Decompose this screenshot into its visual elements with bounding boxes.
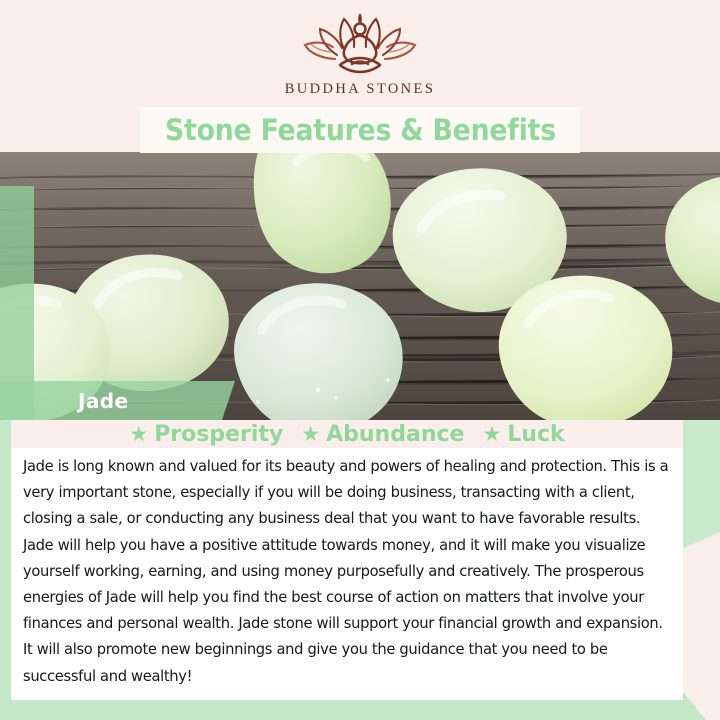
accent-strip-right <box>680 420 720 532</box>
brand-header: BUDDHA STONES <box>0 12 720 98</box>
benefit-label: Luck <box>507 422 564 447</box>
description-paragraph: Jade is long known and valued for its be… <box>23 453 669 689</box>
benefit-item-luck: ★ Luck <box>482 422 564 447</box>
benefit-label: Abundance <box>326 422 464 447</box>
brand-name: BUDDHA STONES <box>285 81 436 98</box>
lotus-meditation-icon <box>300 12 420 78</box>
accent-strip-left <box>0 420 11 700</box>
star-icon: ★ <box>301 424 320 445</box>
benefit-label: Prosperity <box>154 422 283 447</box>
stone-name-label: Jade <box>78 389 128 413</box>
description-section: ★ Prosperity ★ Abundance ★ Luck Jade is … <box>0 420 720 720</box>
benefits-row: ★ Prosperity ★ Abundance ★ Luck <box>11 420 683 448</box>
page-title: Stone Features & Benefits <box>165 113 556 147</box>
title-banner: Stone Features & Benefits <box>140 107 580 153</box>
benefit-item-prosperity: ★ Prosperity <box>129 422 283 447</box>
product-info-card: BUDDHA STONES <box>0 0 720 720</box>
stone-photo <box>0 152 720 420</box>
star-icon: ★ <box>129 424 148 445</box>
stone-caption-band: Jade <box>0 381 222 420</box>
star-icon: ★ <box>482 424 501 445</box>
benefit-item-abundance: ★ Abundance <box>301 422 464 447</box>
